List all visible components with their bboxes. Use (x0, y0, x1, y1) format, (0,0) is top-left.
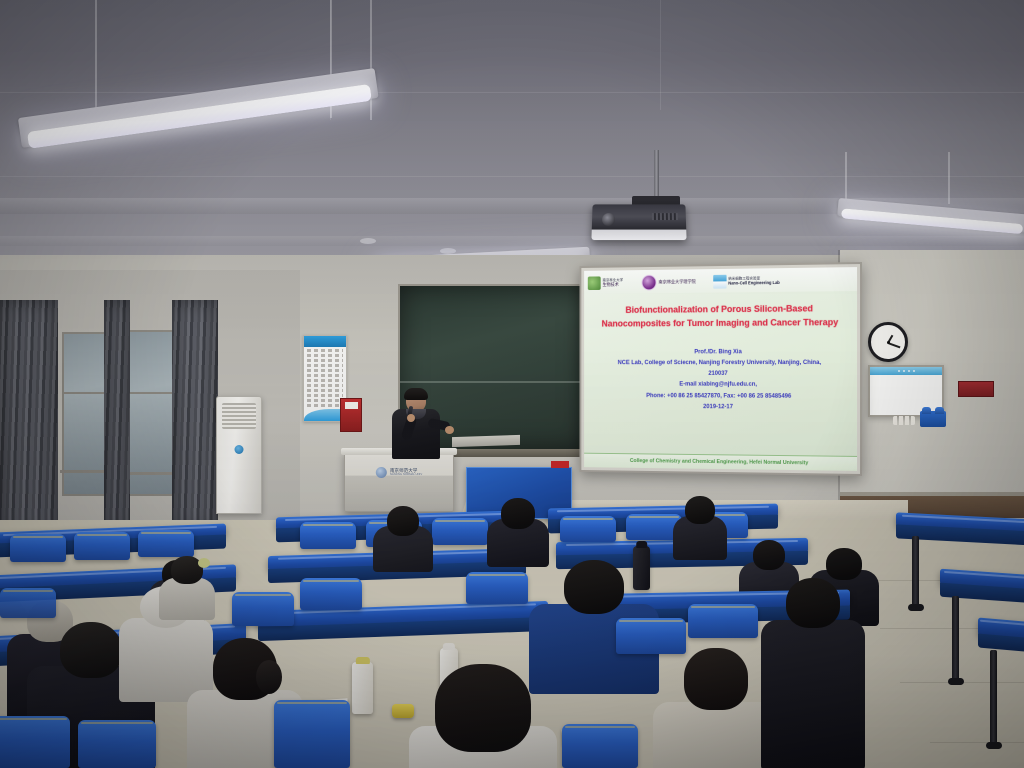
slide-metadata: Prof./Dr. Bing Xia NCE Lab, College of S… (618, 346, 821, 413)
auditorium-seat[interactable] (562, 724, 638, 768)
presenter-speaker (386, 390, 450, 460)
nano-cell-logo-icon (713, 275, 726, 289)
logo-nano-en: Nano-Cell Engineering Lab (728, 281, 780, 286)
auditorium-seat[interactable] (78, 720, 156, 768)
desk-right-column-3 (978, 617, 1024, 640)
ceiling-rod-cap (360, 238, 376, 244)
curtain[interactable] (0, 300, 58, 540)
slide-email: E-mail xiabing@njfu.edu.cn, (618, 379, 821, 390)
slide-date: 2019-12-17 (618, 401, 821, 413)
presentation-slide: 南京林业大学 生物技术 南京林业大学理学院 纳米细胞工程实验室 Nano-Cel… (584, 267, 857, 471)
wall-clock (868, 322, 908, 362)
slide-contact: Phone: +00 86 25 85427870, Fax: +00 86 2… (618, 390, 821, 402)
ac-grille-icon (222, 403, 256, 429)
red-label-tag (551, 461, 569, 468)
university-emblem-icon (376, 467, 387, 478)
audience-member (372, 506, 434, 570)
poster-header-band (304, 336, 346, 347)
hair-tie (198, 558, 210, 568)
audience-member (486, 498, 550, 564)
clock-minute-hand (888, 342, 901, 348)
light-hanger-rod (370, 0, 372, 120)
slide-body: Biofunctionalization of Porous Silicon-B… (584, 291, 857, 456)
ceiling (0, 0, 1024, 272)
slide-footer: College of Chemistry and Chemical Engine… (584, 453, 857, 471)
ceiling-projector (591, 204, 686, 240)
lecture-hall-scene: 南京林业大学 生物技术 南京林业大学理学院 纳米细胞工程实验室 Nano-Cel… (0, 0, 1024, 768)
slide-postcode: 210037 (618, 368, 821, 379)
auditorium-seat[interactable] (232, 592, 294, 626)
auditorium-seat[interactable] (74, 532, 130, 560)
red-wall-sign (958, 381, 994, 397)
auditorium-seat[interactable] (274, 700, 350, 768)
wall-notice-board (868, 365, 944, 417)
desk-leg (912, 536, 919, 608)
logo-green-biotech: 南京林业大学 生物技术 (588, 276, 623, 290)
audience-member (158, 556, 216, 616)
curtain[interactable] (172, 300, 218, 532)
lectern-podium: 南京师范大学 NANJING NORMAL UNIV (344, 452, 454, 512)
light-hanger-rod (948, 152, 950, 204)
white-thermos-bottle[interactable] (352, 662, 373, 714)
window-rail (126, 472, 176, 475)
leaf-logo-icon (588, 276, 601, 290)
projector-vent-icon (652, 213, 678, 220)
auditorium-seat[interactable] (300, 578, 362, 610)
logo-university-seal: 南京林业大学理学院 (642, 274, 696, 290)
slide-title-line2: Nanocomposites for Tumor Imaging and Can… (602, 315, 839, 330)
auditorium-seat[interactable] (466, 572, 528, 604)
window-rail (60, 470, 108, 473)
auditorium-seat[interactable] (10, 534, 66, 562)
podium-plaque: 南京师范大学 NANJING NORMAL UNIV (376, 467, 422, 478)
auditorium-seat[interactable] (300, 522, 356, 549)
auditorium-seat[interactable] (0, 588, 56, 618)
slide-title: Biofunctionalization of Porous Silicon-B… (602, 301, 839, 331)
notice-board-header (870, 367, 942, 375)
logo-seal-cn: 南京林业大学理学院 (659, 279, 696, 285)
slide-logo-bar: 南京林业大学 生物技术 南京林业大学理学院 纳米细胞工程实验室 Nano-Cel… (584, 267, 857, 294)
floor-standing-air-conditioner[interactable] (216, 396, 262, 514)
auditorium-seat[interactable] (688, 604, 758, 638)
wall-clip-holder (893, 416, 915, 425)
logo-green-en: 生物技术 (603, 283, 624, 288)
audience-member (760, 578, 866, 768)
projector-mount-rod (654, 150, 659, 198)
slide-affiliation: NCE Lab, College of Sciecne, Nanjing For… (618, 357, 821, 368)
fire-alarm-box[interactable] (340, 398, 362, 432)
hair-bun (256, 660, 282, 694)
slide-presenter: Prof./Dr. Bing Xia (618, 346, 821, 358)
auditorium-seat[interactable] (432, 518, 488, 545)
ac-badge-icon (235, 445, 244, 454)
logo-nanocell-lab: 纳米细胞工程实验室 Nano-Cell Engineering Lab (713, 274, 780, 289)
projection-screen: 南京林业大学 生物技术 南京林业大学理学院 纳米细胞工程实验室 Nano-Cel… (580, 262, 862, 476)
auditorium-seat[interactable] (138, 530, 194, 557)
auditorium-seat[interactable] (0, 716, 70, 768)
curtain[interactable] (104, 300, 130, 535)
podium-emblem-en: NANJING NORMAL UNIV (390, 473, 422, 476)
blue-wall-fixture (920, 411, 946, 427)
university-seal-icon (642, 275, 657, 291)
desk-leg (990, 650, 997, 746)
auditorium-seat[interactable] (560, 516, 616, 542)
auditorium-seat[interactable] (616, 618, 686, 654)
projector-lens-icon (602, 213, 615, 226)
desk-leg (952, 596, 959, 682)
audience-member (672, 496, 728, 558)
